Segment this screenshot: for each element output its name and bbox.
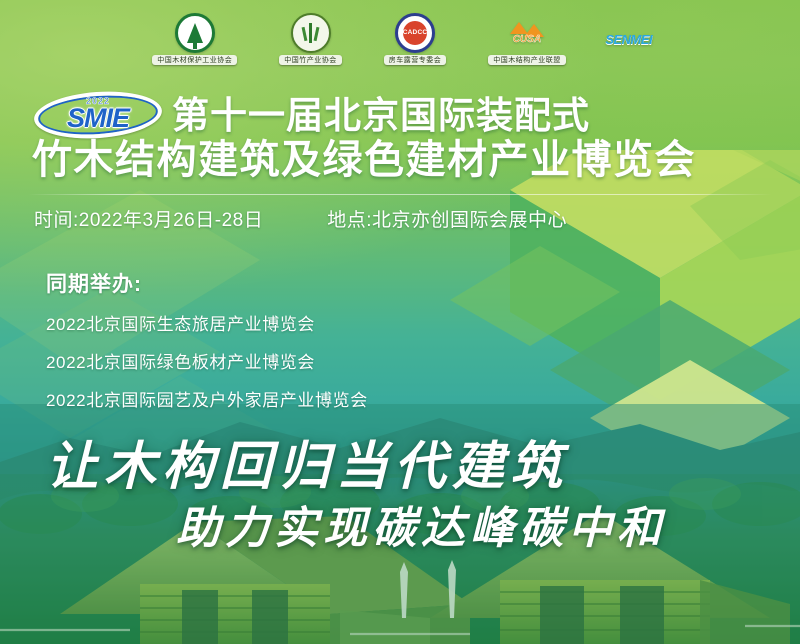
event-meta: 时间:2022年3月26日-28日 地点:北京亦创国际会展中心 xyxy=(34,205,567,232)
cadcc-seal-icon: CADCC xyxy=(395,13,435,53)
cadcc-abbr: CADCC xyxy=(403,21,427,45)
list-item: 2022北京国际绿色板材产业博览会 xyxy=(46,348,368,373)
smie-wordmark: SMIE xyxy=(67,105,129,132)
cusa-abbr: CUSA xyxy=(510,35,544,45)
event-date: 时间:2022年3月26日-28日 xyxy=(34,205,263,232)
senmei-abbr: SENMEI xyxy=(605,32,652,47)
poster-content: 2022 SMIE 第十一届北京国际装配式 竹木结构建筑及绿色建材产业博览会 时… xyxy=(0,0,800,644)
exhibition-poster: 中国木材保护工业协会 中国竹产业协会 CADCC 房车露营专委会 CUSA 中国… xyxy=(0,0,800,644)
title-row: 2022 SMIE 第十一届北京国际装配式 xyxy=(34,92,590,138)
list-item: 2022北京国际生态旅居产业博览会 xyxy=(46,310,368,335)
slogan-line1: 让木构回归当代建筑 xyxy=(46,424,568,499)
event-venue: 地点:北京亦创国际会展中心 xyxy=(327,205,567,232)
tree-circle-icon xyxy=(175,13,215,53)
logo-label: 中国木结构产业联盟 xyxy=(488,55,566,65)
title-divider xyxy=(28,194,772,195)
list-item: 2022北京国际园艺及户外家居产业博览会 xyxy=(46,386,368,411)
page-title-line1: 第十一届北京国际装配式 xyxy=(172,97,590,134)
leaf-wordmark-icon: SENMEI xyxy=(608,19,648,59)
logo-bamboo-association[interactable]: 中国竹产业协会 xyxy=(279,13,342,65)
concurrent-events: 同期举办: 2022北京国际生态旅居产业博览会 2022北京国际绿色板材产业博览… xyxy=(46,268,368,424)
page-title-line2: 竹木结构建筑及绿色建材产业博览会 xyxy=(32,140,696,180)
logo-cadcc[interactable]: CADCC 房车露营专委会 xyxy=(384,13,447,65)
slogan-line2: 助力实现碳达峰碳中和 xyxy=(176,492,666,556)
logo-senmei[interactable]: SENMEI xyxy=(608,19,648,59)
bamboo-seal-icon xyxy=(291,13,331,53)
logo-china-wood-protection[interactable]: 中国木材保护工业协会 xyxy=(152,13,237,65)
logo-label: 中国竹产业协会 xyxy=(279,55,342,65)
concurrent-heading: 同期举办: xyxy=(46,268,368,298)
logo-label: 中国木材保护工业协会 xyxy=(152,55,237,65)
association-logo-strip: 中国木材保护工业协会 中国竹产业协会 CADCC 房车露营专委会 CUSA 中国… xyxy=(0,0,800,78)
house-roof-icon: CUSA xyxy=(507,13,547,53)
smie-logo: 2022 SMIE xyxy=(34,92,162,138)
logo-cusa[interactable]: CUSA 中国木结构产业联盟 xyxy=(488,13,566,65)
logo-label: 房车露营专委会 xyxy=(384,55,447,65)
